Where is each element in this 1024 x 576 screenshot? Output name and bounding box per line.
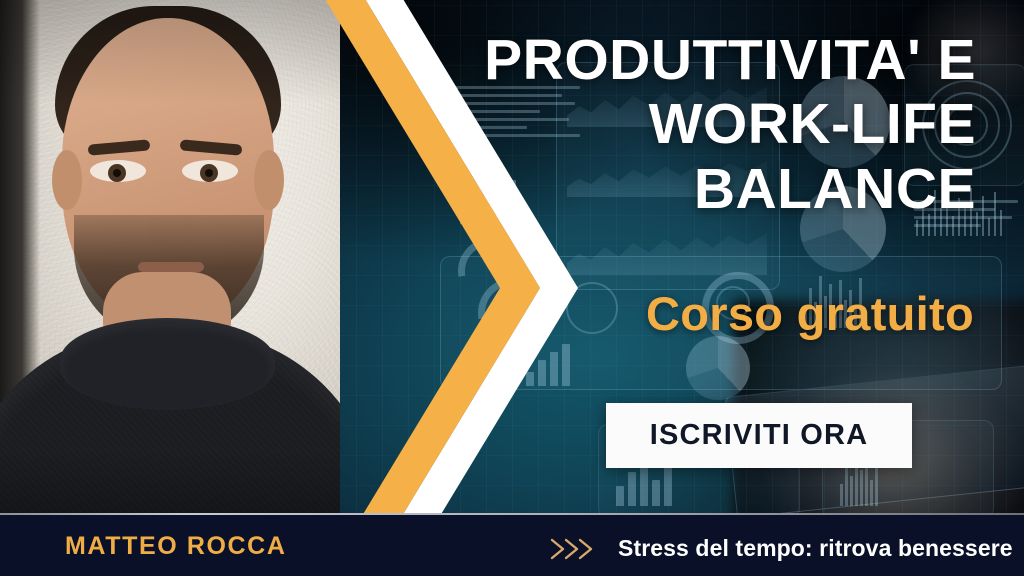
presenter-name: MATTEO ROCCA xyxy=(65,532,287,561)
holo-pie-3 xyxy=(686,336,750,400)
triple-chevron-right-icon xyxy=(548,536,604,562)
page-title: PRODUTTIVITA' E WORK-LIFE BALANCE xyxy=(296,28,976,221)
holo-donut-c xyxy=(449,333,527,411)
tagline-text: Stress del tempo: ritrova benessere xyxy=(618,535,1013,562)
title-line-2: WORK-LIFE xyxy=(296,92,976,156)
holo-donut-64 xyxy=(464,264,561,361)
holo-area-3 xyxy=(567,221,767,275)
holo-ring-a xyxy=(566,282,618,334)
holo-donut-label: 64% xyxy=(496,300,516,310)
holo-donut-small xyxy=(445,225,537,317)
presenter-portrait xyxy=(0,0,340,576)
title-line-1: PRODUTTIVITA' E xyxy=(296,28,976,92)
photo-vignette xyxy=(0,0,340,576)
signup-button[interactable]: ISCRIVITI ORA xyxy=(606,403,912,468)
holo-bars-c xyxy=(526,344,570,386)
title-line-3: BALANCE xyxy=(296,157,976,221)
tagline-group: Stress del tempo: ritrova benessere xyxy=(548,535,1013,562)
promo-banner: 64% xyxy=(0,0,1024,576)
subtitle: Corso gratuito xyxy=(646,286,974,341)
